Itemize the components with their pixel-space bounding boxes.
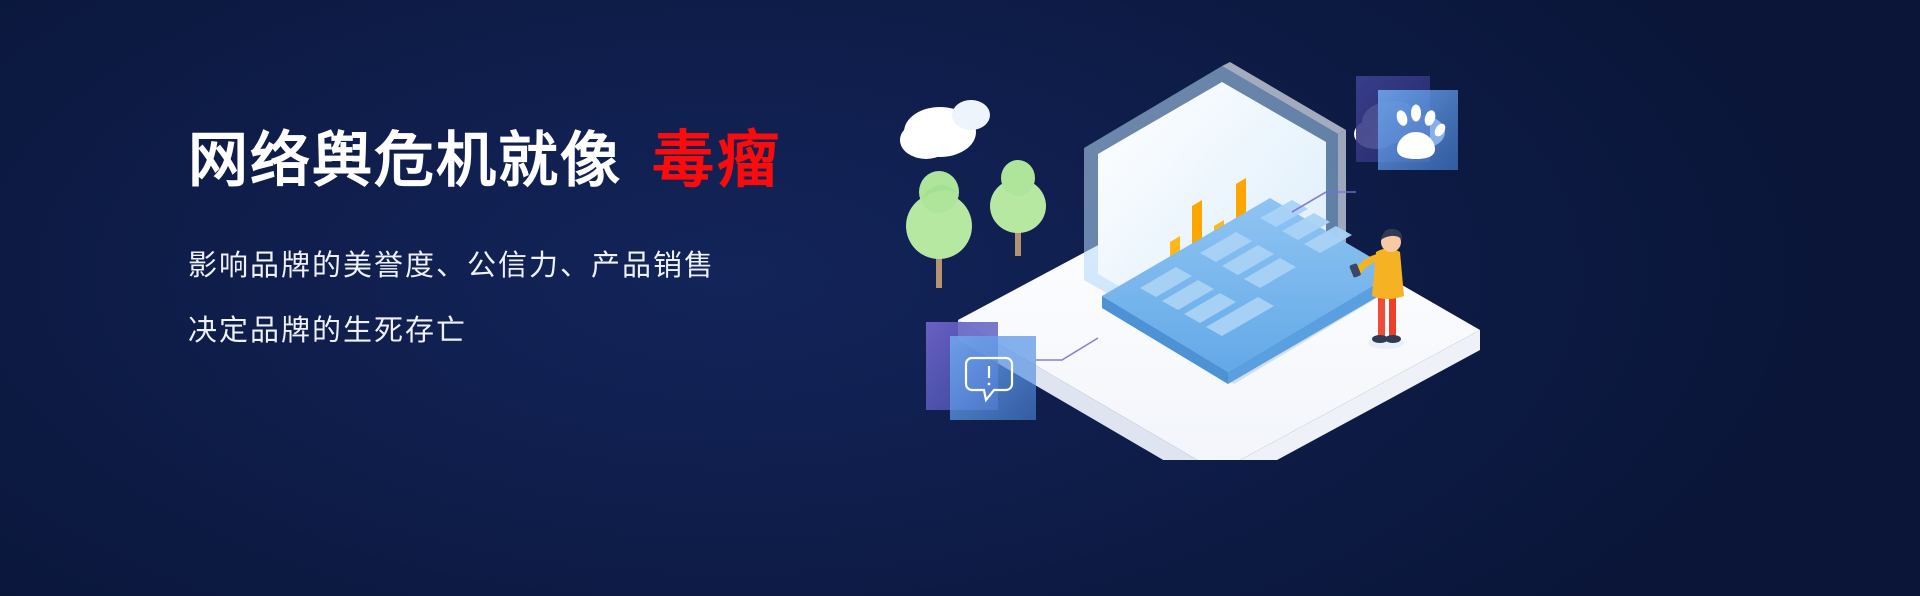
- illustration: [840, 40, 1480, 460]
- hero-banner: 网络舆危机就像 毒瘤 影响品牌的美誉度、公信力、产品销售 决定品牌的生死存亡: [0, 0, 1920, 596]
- subtitle-line-1: 影响品牌的美誉度、公信力、产品销售: [188, 252, 948, 281]
- tree-tall-icon: [906, 171, 972, 288]
- headline: 网络舆危机就像 毒瘤: [188, 130, 948, 192]
- copy-block: 网络舆危机就像 毒瘤 影响品牌的美誉度、公信力、产品销售 决定品牌的生死存亡: [188, 130, 948, 382]
- tree-short-icon: [990, 160, 1046, 256]
- subtitle-block: 影响品牌的美誉度、公信力、产品销售 决定品牌的生死存亡: [188, 252, 948, 346]
- headline-white-text: 网络舆危机就像: [188, 131, 622, 191]
- paw-panel: [1356, 76, 1458, 170]
- subtitle-line-2: 决定品牌的生死存亡: [188, 317, 948, 346]
- alert-panel: [926, 322, 1036, 420]
- headline-red-text: 毒瘤: [652, 130, 782, 192]
- cloud-left-icon: [900, 100, 990, 159]
